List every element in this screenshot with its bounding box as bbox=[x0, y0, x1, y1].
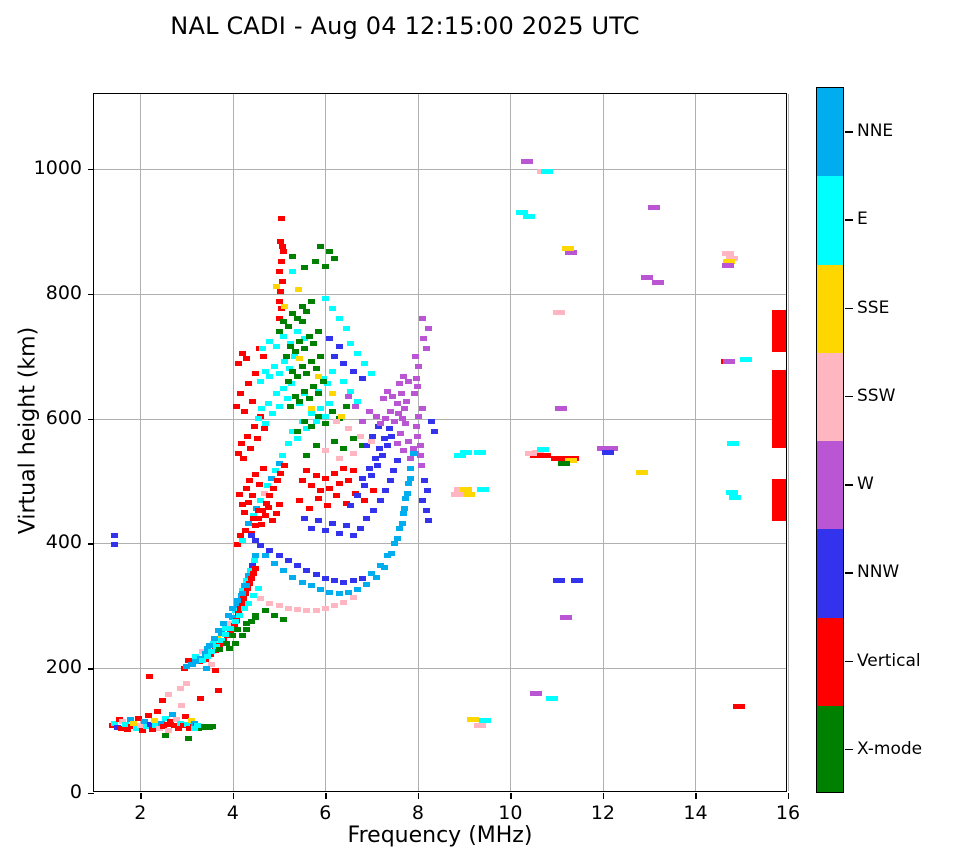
scatter-point bbox=[243, 621, 250, 626]
scatter-point bbox=[285, 558, 292, 563]
scatter-point bbox=[350, 436, 357, 441]
scatter-point bbox=[391, 419, 398, 424]
scatter-point bbox=[285, 606, 292, 611]
scatter-point bbox=[562, 246, 574, 251]
x-tick bbox=[695, 793, 696, 799]
scatter-point bbox=[384, 443, 391, 448]
scatter-point bbox=[289, 269, 296, 274]
x-tick-label: 12 bbox=[573, 802, 633, 824]
scatter-point bbox=[345, 478, 352, 483]
scatter-point bbox=[239, 633, 246, 638]
scatter-point bbox=[308, 406, 315, 411]
ionogram-figure: NAL CADI - Aug 04 12:15:00 2025 UTC 2468… bbox=[0, 0, 958, 857]
scatter-point bbox=[285, 324, 292, 329]
scatter-point bbox=[280, 386, 287, 391]
scatter-point bbox=[387, 409, 394, 414]
scatter-point bbox=[227, 626, 234, 631]
scatter-point bbox=[558, 461, 570, 466]
scatter-point bbox=[401, 506, 408, 511]
scatter-point bbox=[546, 696, 558, 701]
scatter-point bbox=[232, 641, 239, 646]
scatter-point bbox=[373, 575, 380, 580]
scatter-point bbox=[340, 446, 347, 451]
colorbar-tick bbox=[845, 572, 853, 573]
scatter-point bbox=[239, 591, 246, 596]
scatter-point bbox=[261, 426, 268, 431]
scatter-point bbox=[247, 446, 254, 451]
scatter-point bbox=[294, 607, 301, 612]
scatter-point bbox=[317, 587, 324, 592]
scatter-point bbox=[407, 466, 414, 471]
scatter-point bbox=[340, 466, 347, 471]
scatter-point bbox=[308, 299, 315, 304]
y-axis-title: Virtual height (km) bbox=[16, 171, 41, 691]
scatter-point bbox=[413, 424, 420, 429]
scatter-point bbox=[283, 354, 290, 359]
scatter-point bbox=[223, 641, 230, 646]
scatter-point bbox=[146, 674, 153, 679]
scatter-point bbox=[260, 354, 267, 359]
scatter-point bbox=[372, 456, 379, 461]
scatter-point bbox=[403, 399, 410, 404]
scatter-point bbox=[276, 502, 283, 507]
scatter-point bbox=[289, 254, 296, 259]
scatter-point bbox=[396, 526, 403, 531]
scatter-point bbox=[265, 505, 272, 510]
colorbar bbox=[816, 87, 844, 793]
scatter-point bbox=[410, 451, 417, 456]
scatter-point bbox=[354, 493, 361, 498]
scatter-point bbox=[294, 316, 301, 321]
scatter-point bbox=[331, 439, 338, 444]
scatter-point bbox=[354, 351, 361, 356]
scatter-point bbox=[722, 263, 734, 268]
scatter-point bbox=[284, 396, 291, 401]
scatter-point bbox=[363, 443, 370, 448]
scatter-point bbox=[417, 453, 424, 458]
scatter-point bbox=[248, 533, 255, 538]
scatter-point bbox=[252, 615, 259, 620]
scatter-point bbox=[308, 483, 315, 488]
scatter-point bbox=[322, 476, 329, 481]
scatter-point bbox=[404, 491, 411, 496]
scatter-point bbox=[276, 371, 283, 376]
scatter-point bbox=[308, 359, 315, 364]
scatter-point bbox=[425, 518, 432, 523]
scatter-point bbox=[388, 551, 395, 556]
scatter-point bbox=[336, 531, 343, 536]
scatter-point bbox=[530, 691, 542, 696]
scatter-point bbox=[343, 326, 350, 331]
scatter-point bbox=[280, 249, 287, 254]
scatter-point bbox=[363, 516, 370, 521]
colorbar-tick bbox=[845, 396, 853, 397]
scatter-point bbox=[250, 571, 257, 576]
scatter-point bbox=[296, 339, 303, 344]
scatter-point bbox=[279, 279, 286, 284]
scatter-point bbox=[419, 316, 426, 321]
scatter-point bbox=[414, 384, 421, 389]
scatter-point bbox=[315, 329, 322, 334]
scatter-point bbox=[399, 521, 406, 526]
scatter-point bbox=[331, 578, 338, 583]
scatter-point bbox=[381, 565, 388, 570]
scatter-point bbox=[361, 361, 368, 366]
colorbar-tick bbox=[845, 219, 853, 220]
scatter-point bbox=[252, 371, 259, 376]
scatter-point bbox=[194, 723, 201, 728]
colorbar-label-sse: SSE bbox=[857, 298, 889, 318]
scatter-point bbox=[315, 414, 322, 419]
scatter-point bbox=[331, 354, 338, 359]
scatter-point bbox=[340, 379, 347, 384]
scatter-point bbox=[322, 528, 329, 533]
scatter-point bbox=[525, 451, 537, 456]
scatter-point bbox=[257, 596, 264, 601]
y-tick bbox=[88, 543, 94, 544]
scatter-point bbox=[274, 478, 281, 483]
scatter-point bbox=[417, 443, 424, 448]
colorbar-label-nne: NNE bbox=[857, 121, 893, 141]
scatter-point bbox=[244, 434, 251, 439]
scatter-point bbox=[381, 436, 388, 441]
scatter-point bbox=[294, 436, 301, 441]
scatter-point bbox=[405, 439, 412, 444]
scatter-point bbox=[322, 448, 329, 453]
scatter-point bbox=[359, 419, 366, 424]
scatter-point bbox=[359, 476, 366, 481]
scatter-point bbox=[199, 658, 206, 663]
scatter-point bbox=[394, 536, 401, 541]
scatter-point bbox=[419, 498, 426, 503]
scatter-point bbox=[271, 613, 278, 618]
scatter-point bbox=[285, 441, 292, 446]
x-tick-label: 2 bbox=[110, 802, 170, 824]
scatter-point bbox=[336, 344, 343, 349]
scatter-point bbox=[366, 466, 373, 471]
scatter-point bbox=[424, 488, 431, 493]
scatter-point bbox=[413, 376, 420, 381]
scatter-point bbox=[279, 453, 286, 458]
colorbar-segment-x-mode bbox=[817, 706, 843, 793]
scatter-point bbox=[243, 627, 250, 632]
scatter-point bbox=[215, 688, 222, 693]
scatter-point bbox=[255, 586, 262, 591]
scatter-point bbox=[301, 419, 308, 424]
scatter-point bbox=[315, 391, 322, 396]
scatter-point bbox=[336, 316, 343, 321]
colorbar-tick bbox=[845, 308, 853, 309]
scatter-point bbox=[397, 431, 404, 436]
scatter-point bbox=[234, 627, 241, 632]
scatter-point bbox=[159, 698, 166, 703]
scatter-point bbox=[245, 381, 252, 386]
scatter-point bbox=[177, 686, 184, 691]
scatter-point bbox=[326, 590, 333, 595]
scatter-point bbox=[281, 304, 288, 309]
colorbar-segment-nne bbox=[817, 88, 843, 176]
scatter-point bbox=[641, 275, 653, 280]
scatter-point bbox=[326, 486, 333, 491]
scatter-point bbox=[333, 419, 340, 424]
scatter-point bbox=[315, 496, 322, 501]
scatter-point bbox=[254, 436, 261, 441]
scatter-point bbox=[463, 492, 475, 497]
scatter-point bbox=[255, 416, 262, 421]
scatter-point bbox=[329, 391, 336, 396]
scatter-point bbox=[252, 538, 259, 543]
scatter-point bbox=[428, 419, 435, 424]
scatter-point bbox=[303, 453, 310, 458]
scatter-point bbox=[636, 470, 648, 475]
scatter-point bbox=[366, 409, 373, 414]
scatter-point bbox=[266, 493, 273, 498]
chart-title: NAL CADI - Aug 04 12:15:00 2025 UTC bbox=[0, 12, 810, 40]
scatter-point bbox=[277, 471, 284, 476]
scatter-point bbox=[340, 600, 347, 605]
scatter-point bbox=[363, 582, 370, 587]
scatter-point bbox=[326, 401, 333, 406]
scatter-point bbox=[294, 374, 301, 379]
x-tick-label: 6 bbox=[295, 802, 355, 824]
colorbar-label-nnw: NNW bbox=[857, 562, 899, 582]
scatter-point bbox=[271, 561, 278, 566]
scatter-point bbox=[317, 406, 324, 411]
plot-area: 24681012141602004006008001000 bbox=[93, 93, 787, 792]
scatter-point bbox=[294, 329, 301, 334]
scatter-point bbox=[266, 601, 273, 606]
scatter-point bbox=[407, 476, 414, 481]
scatter-point bbox=[295, 287, 302, 292]
scatter-point bbox=[279, 244, 286, 249]
scatter-point bbox=[308, 526, 315, 531]
scatter-point bbox=[165, 692, 172, 697]
scatter-point bbox=[400, 511, 407, 516]
scatter-point bbox=[389, 394, 396, 399]
scatter-point bbox=[382, 488, 389, 493]
scatter-point bbox=[345, 426, 352, 431]
scatter-point bbox=[162, 733, 169, 738]
scatter-point bbox=[521, 159, 533, 164]
scatter-point bbox=[306, 334, 313, 339]
scatter-point bbox=[350, 533, 357, 538]
scatter-point bbox=[350, 595, 357, 600]
x-tick bbox=[418, 793, 419, 799]
scatter-point bbox=[250, 516, 257, 521]
scatter-point bbox=[303, 568, 310, 573]
scatter-point bbox=[197, 696, 204, 701]
scatter-point bbox=[405, 481, 412, 486]
scatter-point bbox=[474, 450, 486, 455]
scatter-point bbox=[412, 354, 419, 359]
scatter-point bbox=[308, 424, 315, 429]
scatter-point bbox=[183, 664, 190, 669]
scatter-point bbox=[402, 421, 409, 426]
scatter-point bbox=[326, 249, 333, 254]
x-tick-label: 16 bbox=[758, 802, 818, 824]
scatter-point bbox=[343, 404, 350, 409]
scatter-point bbox=[280, 334, 287, 339]
scatter-point bbox=[322, 606, 329, 611]
scatter-point bbox=[350, 451, 357, 456]
scatter-point bbox=[285, 379, 292, 384]
scatter-point bbox=[229, 633, 236, 638]
scatter-point bbox=[240, 456, 247, 461]
scatter-point bbox=[276, 329, 283, 334]
scatter-point bbox=[216, 647, 223, 652]
scatter-point bbox=[347, 341, 354, 346]
scatter-point bbox=[252, 553, 259, 558]
scatter-point bbox=[407, 456, 414, 461]
scatter-point bbox=[380, 396, 387, 401]
colorbar-label-vertical: Vertical bbox=[857, 651, 921, 671]
scatter-point bbox=[361, 483, 368, 488]
scatter-point bbox=[225, 613, 232, 618]
colorbar-segment-vertical bbox=[817, 618, 843, 706]
scatter-point bbox=[553, 578, 565, 583]
scatter-point bbox=[370, 488, 377, 493]
scatter-point bbox=[315, 518, 322, 523]
scatter-point bbox=[301, 516, 308, 521]
gridline-vertical bbox=[788, 94, 789, 791]
colorbar-label-w: W bbox=[857, 474, 874, 494]
scatter-point bbox=[313, 366, 320, 371]
scatter-point bbox=[303, 371, 310, 376]
scatter-point bbox=[553, 310, 565, 315]
scatter-point bbox=[276, 269, 283, 274]
scatter-point bbox=[415, 414, 422, 419]
scatter-point bbox=[296, 498, 303, 503]
scatter-point bbox=[420, 336, 427, 341]
y-tick-label: 600 bbox=[2, 407, 82, 429]
scatter-point bbox=[269, 411, 276, 416]
scatter-point bbox=[336, 456, 343, 461]
scatter-point bbox=[236, 492, 243, 497]
scatter-point bbox=[317, 354, 324, 359]
scatter-point bbox=[414, 434, 421, 439]
scatter-point bbox=[234, 598, 241, 603]
scatter-point bbox=[317, 488, 324, 493]
scatter-point bbox=[243, 486, 250, 491]
scatter-point bbox=[555, 406, 567, 411]
scatter-point bbox=[474, 723, 486, 728]
scatter-point bbox=[368, 439, 375, 444]
scatter-point bbox=[301, 265, 308, 270]
scatter-point bbox=[329, 369, 336, 374]
scatter-point bbox=[322, 414, 329, 419]
scatter-point bbox=[312, 259, 319, 264]
scatter-point bbox=[336, 481, 343, 486]
scatter-point bbox=[523, 214, 535, 219]
scatter-point bbox=[460, 450, 472, 455]
scatter-point bbox=[303, 309, 310, 314]
scatter-point bbox=[723, 359, 735, 364]
scatter-point bbox=[726, 490, 738, 495]
scatter-point bbox=[220, 621, 227, 626]
scatter-point bbox=[246, 478, 253, 483]
scatter-point bbox=[299, 364, 306, 369]
scatter-point bbox=[277, 289, 284, 294]
scatter-point bbox=[209, 724, 216, 729]
scatter-point bbox=[306, 506, 313, 511]
scatter-point bbox=[352, 404, 359, 409]
x-tick bbox=[788, 793, 789, 799]
scatter-point bbox=[451, 492, 463, 497]
scatter-point bbox=[256, 482, 263, 487]
scatter-point bbox=[398, 391, 405, 396]
scatter-point bbox=[245, 500, 252, 505]
scatter-point bbox=[602, 450, 614, 455]
scatter-point bbox=[541, 169, 553, 174]
scatter-point bbox=[350, 468, 357, 473]
scatter-point bbox=[313, 443, 320, 448]
scatter-point bbox=[266, 339, 273, 344]
x-tick bbox=[603, 793, 604, 799]
colorbar-label-x-mode: X-mode bbox=[857, 739, 922, 759]
scatter-point bbox=[257, 379, 264, 384]
scatter-point bbox=[405, 379, 412, 384]
scatter-point bbox=[299, 478, 306, 483]
scatter-point bbox=[237, 391, 244, 396]
scatter-point bbox=[251, 424, 258, 429]
scatter-point bbox=[772, 479, 786, 521]
scatter-point bbox=[331, 471, 338, 476]
scatter-point bbox=[281, 463, 288, 468]
scatter-point bbox=[386, 426, 393, 431]
scatter-point bbox=[415, 364, 422, 369]
scatter-point bbox=[727, 441, 739, 446]
scatter-point bbox=[359, 376, 366, 381]
x-tick-label: 8 bbox=[388, 802, 448, 824]
scatter-point bbox=[368, 473, 375, 478]
scatter-point bbox=[350, 578, 357, 583]
scatter-point bbox=[423, 508, 430, 513]
scatter-point bbox=[313, 608, 320, 613]
x-tick-label: 10 bbox=[480, 802, 540, 824]
scatter-point bbox=[287, 404, 294, 409]
scatter-point bbox=[278, 216, 285, 221]
scatter-point bbox=[258, 406, 265, 411]
scatter-point bbox=[212, 668, 219, 673]
scatter-point bbox=[265, 401, 272, 406]
scatter-point bbox=[278, 259, 285, 264]
x-tick-label: 4 bbox=[203, 802, 263, 824]
scatter-point bbox=[262, 608, 269, 613]
scatter-point bbox=[111, 533, 118, 538]
scatter-point bbox=[315, 374, 322, 379]
scatter-point bbox=[394, 401, 401, 406]
scatter-point bbox=[249, 493, 256, 498]
scatter-point bbox=[379, 453, 386, 458]
scatter-point bbox=[306, 396, 313, 401]
scatter-point bbox=[331, 256, 338, 261]
x-tick-label: 14 bbox=[665, 802, 725, 824]
y-tick bbox=[88, 294, 94, 295]
scatter-point bbox=[310, 384, 317, 389]
scatter-point bbox=[357, 434, 364, 439]
scatter-point bbox=[273, 344, 280, 349]
scatter-point bbox=[350, 369, 357, 374]
scatter-point bbox=[537, 447, 549, 452]
scatter-point bbox=[303, 468, 310, 473]
scatter-point bbox=[111, 542, 118, 547]
scatter-point bbox=[329, 306, 336, 311]
scatter-point bbox=[310, 341, 317, 346]
scatter-point bbox=[257, 543, 264, 548]
x-tick bbox=[140, 793, 141, 799]
scatter-point bbox=[313, 473, 320, 478]
scatter-point bbox=[384, 389, 391, 394]
